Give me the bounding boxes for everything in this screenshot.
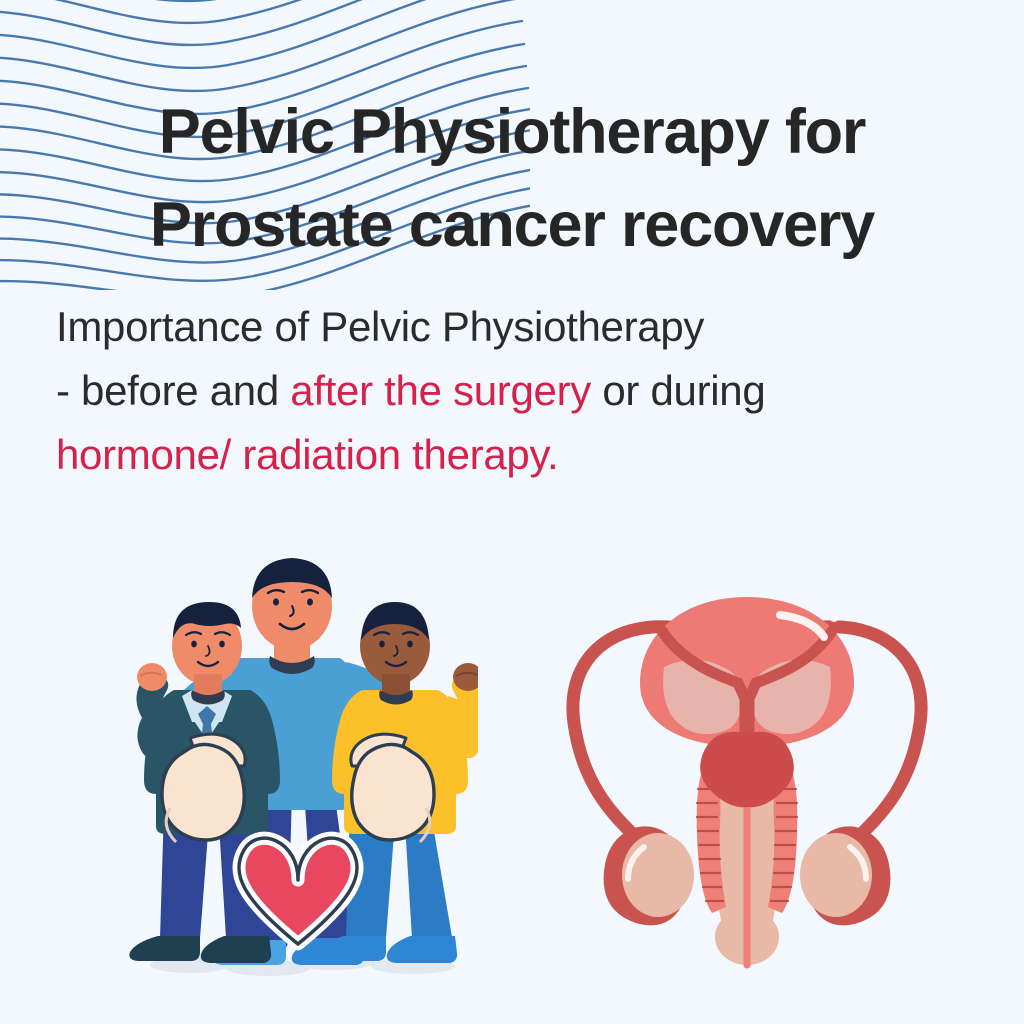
male-reproductive-system-illustration — [552, 575, 942, 975]
fist-left — [137, 663, 167, 691]
page-title: Pelvic Physiotherapy for Prostate cancer… — [0, 86, 1024, 272]
subtitle-line-2: - before and after the surgery or during — [56, 359, 1000, 423]
testicle-left — [604, 826, 694, 925]
subtitle-line-2-suffix: or during — [591, 367, 765, 414]
subtitle: Importance of Pelvic Physiotherapy - bef… — [56, 295, 1000, 486]
poster-canvas: { "poster": { "background_color": "#f3f8… — [0, 0, 1024, 1024]
title-line-2: Prostate cancer recovery — [0, 179, 1024, 272]
title-line-1: Pelvic Physiotherapy for — [0, 86, 1024, 179]
subtitle-line-3-accent: hormone/ radiation therapy. — [56, 423, 1000, 487]
three-men-holding-heart-illustration — [118, 540, 478, 980]
subtitle-line-2-accent: after the surgery — [290, 367, 591, 414]
subtitle-line-2-prefix: - before and — [56, 367, 290, 414]
speed-lines-decoration — [764, 0, 1024, 100]
testicle-right — [800, 826, 890, 925]
illustration-area — [0, 520, 1024, 1000]
subtitle-line-1: Importance of Pelvic Physiotherapy — [56, 295, 1000, 359]
